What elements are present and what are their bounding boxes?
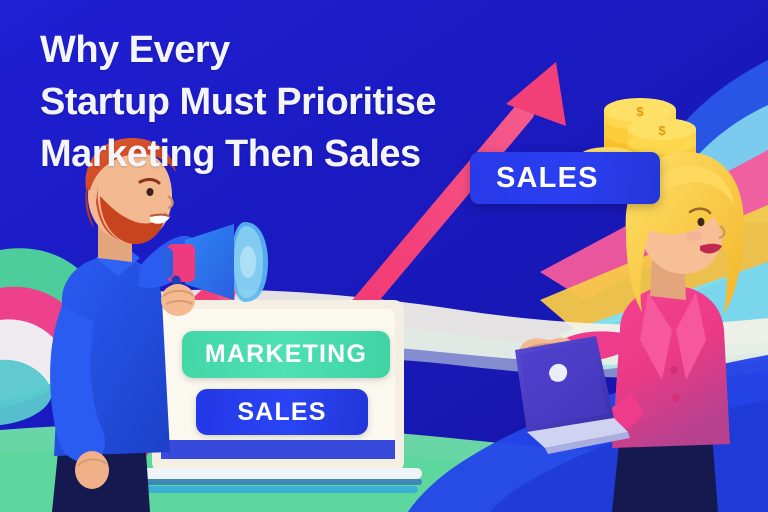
badge-sales-laptop: SALES: [196, 389, 368, 435]
badge-marketing: MARKETING: [182, 331, 390, 378]
man-with-megaphone: [50, 138, 198, 512]
woman-with-laptop: [515, 152, 744, 512]
megaphone: [161, 222, 268, 316]
badge-sales-laptop-label: SALES: [237, 398, 326, 427]
badge-sales-top-label: SALES: [496, 162, 599, 195]
badge-sales-top: SALES: [470, 152, 660, 204]
badge-marketing-label: MARKETING: [205, 340, 367, 369]
characters: [0, 0, 768, 512]
poster-canvas: $ $ $ SALES: [0, 0, 768, 512]
